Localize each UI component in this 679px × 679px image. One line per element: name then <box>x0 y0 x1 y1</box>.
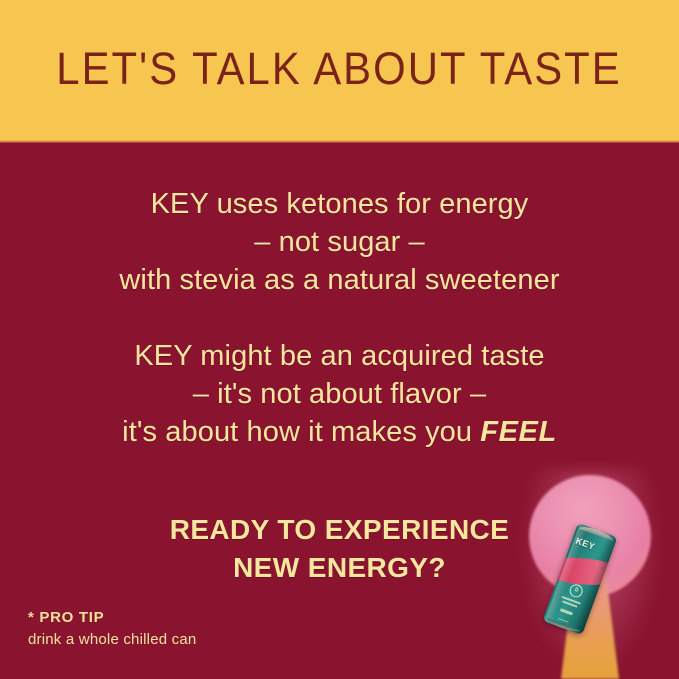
copy-block: KEY uses ketones for energy – not sugar … <box>0 185 679 451</box>
paragraph-line: KEY might be an acquired taste <box>0 337 679 375</box>
paragraph-line: – it's not about flavor – <box>0 375 679 413</box>
pro-tip-body: drink a whole chilled can <box>28 629 196 651</box>
header-band: LET'S TALK ABOUT TASTE <box>0 0 679 143</box>
emphasis-feel: FEEL <box>480 416 557 448</box>
paragraph-ketones: KEY uses ketones for energy – not sugar … <box>0 185 679 299</box>
paragraph-line-feel-prefix: it's about how it makes you <box>122 416 480 448</box>
paragraph-line-feel: it's about how it makes you FEEL <box>0 413 679 451</box>
pro-tip-heading: * PRO TIP <box>28 607 196 629</box>
pro-tip: * PRO TIP drink a whole chilled can <box>28 607 196 651</box>
product-graphic: KEY 0 <box>511 471 679 679</box>
can-text-line <box>560 608 573 615</box>
paragraph-line: – not sugar – <box>0 223 679 261</box>
poster-canvas: LET'S TALK ABOUT TASTE KEY uses ketones … <box>0 0 679 679</box>
paragraph-acquired-taste: KEY might be an acquired taste – it's no… <box>0 337 679 451</box>
paragraph-line: KEY uses ketones for energy <box>0 185 679 223</box>
page-title: LET'S TALK ABOUT TASTE <box>57 46 622 91</box>
paragraph-line: with stevia as a natural sweetener <box>0 261 679 299</box>
body-area: KEY uses ketones for energy – not sugar … <box>0 143 679 679</box>
